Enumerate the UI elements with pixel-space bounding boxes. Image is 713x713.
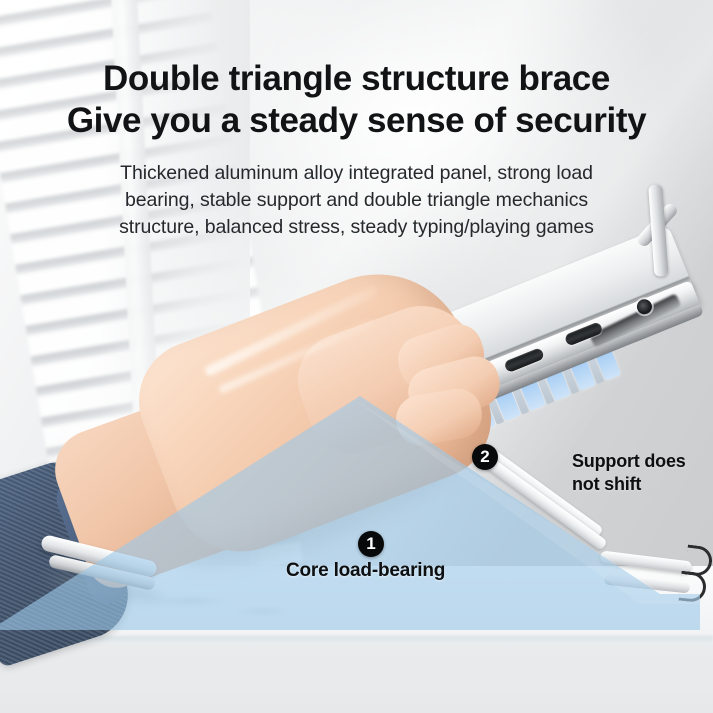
copy-block: Double triangle structure brace Give you… [0, 0, 713, 241]
callout-label-core-load-bearing: Core load-bearing [286, 560, 445, 582]
subcopy-line-1: Thickened aluminum alloy integrated pane… [0, 160, 713, 187]
subcopy-line-3: structure, balanced stress, steady typin… [0, 214, 713, 241]
callout-badge-2: 2 [472, 444, 498, 470]
page-title: Double triangle structure brace Give you… [0, 0, 713, 142]
subcopy: Thickened aluminum alloy integrated pane… [0, 160, 713, 241]
callout-2-line-1: Support does [572, 450, 686, 473]
product-feature-poster: Double triangle structure brace Give you… [0, 0, 713, 713]
headline-line-2: Give you a steady sense of security [0, 100, 713, 142]
callout-2-line-2: not shift [572, 473, 686, 496]
callout-badge-1: 1 [358, 531, 384, 557]
callout-label-support-does-not-shift: Support does not shift [572, 450, 686, 496]
subcopy-line-2: bearing, stable support and double trian… [0, 187, 713, 214]
headline-line-1: Double triangle structure brace [0, 58, 713, 100]
